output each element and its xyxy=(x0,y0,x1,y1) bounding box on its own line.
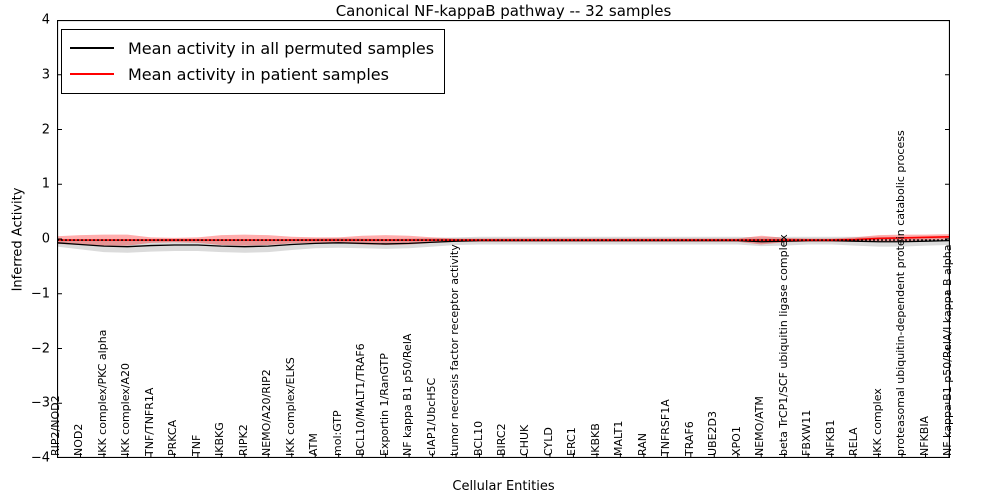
x-tick-label: ATM xyxy=(308,433,319,456)
y-tick-label: 1 xyxy=(4,177,50,192)
x-tick-label: XPO1 xyxy=(731,426,742,456)
x-tick-label: NFKB1 xyxy=(825,420,836,456)
legend-item-patient: Mean activity in patient samples xyxy=(70,61,434,87)
x-tick-label: NFKBIA xyxy=(919,416,930,456)
x-tick-label: IKK complex xyxy=(872,388,883,456)
x-tick-label: mol:GTP xyxy=(332,410,343,456)
x-tick-label: BCL10 xyxy=(473,421,484,456)
x-tick-label: TRAF6 xyxy=(684,421,695,456)
x-tick-label: CYLD xyxy=(543,427,554,456)
x-tick-label: RIP2/NOD2 xyxy=(50,395,61,456)
x-tick-label: MALT1 xyxy=(613,421,624,456)
y-tick-label: 2 xyxy=(4,122,50,137)
x-tick-label: NF kappa B1 p50/RelA xyxy=(402,334,413,456)
x-tick-label: IKK complex/ELKS xyxy=(285,357,296,456)
x-tick-label: CHUK xyxy=(519,425,530,456)
x-tick-label: IKBKB xyxy=(590,423,601,456)
legend-swatch-patient xyxy=(70,73,114,75)
chart-legend: Mean activity in all permuted samples Me… xyxy=(61,29,445,94)
x-tick-label: IKK complex/PKC alpha xyxy=(97,330,108,456)
x-tick-label: NOD2 xyxy=(73,424,84,456)
x-tick-label: tumor necrosis factor receptor activity xyxy=(449,244,460,456)
x-tick-label: beta TrCP1/SCF ubiquitin ligase complex xyxy=(778,234,789,456)
x-tick-label: ERC1 xyxy=(566,427,577,456)
x-tick-label: IKK complex/A20 xyxy=(120,363,131,456)
x-tick-label: cIAP1/UbcH5C xyxy=(426,378,437,456)
y-axis-ticks: 43210−1−2−3−4 xyxy=(0,20,50,458)
y-tick-label: 0 xyxy=(4,232,50,247)
x-tick-label: NF kappa B1 p50/RelA/I kappa B alpha xyxy=(942,245,953,457)
x-tick-label: TNF xyxy=(191,435,202,456)
x-tick-label: RAN xyxy=(637,433,648,456)
x-axis-label: Cellular Entities xyxy=(57,479,950,494)
y-tick-label: 3 xyxy=(4,67,50,82)
x-tick-label: RIPK2 xyxy=(238,424,249,456)
x-tick-label: PRKCA xyxy=(167,420,178,456)
legend-item-permuted: Mean activity in all permuted samples xyxy=(70,35,434,61)
x-tick-label: proteasomal ubiquitin-dependent protein … xyxy=(895,130,906,456)
x-tick-label: RELA xyxy=(848,428,859,457)
x-tick-label: BCL10/MALT1/TRAF6 xyxy=(355,343,366,456)
chart-figure: Canonical NF-kappaB pathway -- 32 sample… xyxy=(0,0,1000,500)
chart-title: Canonical NF-kappaB pathway -- 32 sample… xyxy=(57,2,950,20)
x-tick-label: FBXW11 xyxy=(801,410,812,456)
legend-label-permuted: Mean activity in all permuted samples xyxy=(128,39,434,58)
y-tick-label: 4 xyxy=(4,13,50,28)
x-tick-label: IKBKG xyxy=(214,422,225,456)
x-tick-label: TNF/TNFR1A xyxy=(144,388,155,456)
x-tick-label: TNFRSF1A xyxy=(660,399,671,456)
x-tick-label: NEMO/ATM xyxy=(754,396,765,456)
x-tick-label: BIRC2 xyxy=(496,423,507,456)
legend-swatch-permuted xyxy=(70,47,114,49)
x-tick-label: UBE2D3 xyxy=(707,411,718,456)
x-tick-label: NEMO/A20/RIP2 xyxy=(261,369,272,456)
y-tick-label: −1 xyxy=(4,286,50,301)
legend-label-patient: Mean activity in patient samples xyxy=(128,65,389,84)
y-tick-label: −3 xyxy=(4,396,50,411)
y-tick-label: −2 xyxy=(4,341,50,356)
y-tick-label: −4 xyxy=(4,451,50,466)
x-tick-label: Exportin 1/RanGTP xyxy=(379,353,390,456)
